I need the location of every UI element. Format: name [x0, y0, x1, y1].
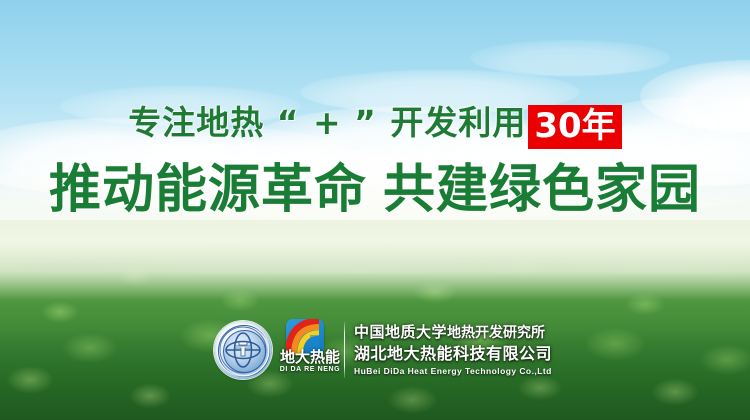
dida-logo-pinyin-text: DI DA RE NENG — [274, 366, 346, 373]
company-name-en: HuBei DiDa Heat Energy Technology Co.,Lt… — [354, 365, 552, 378]
seal-emblem-mark — [214, 321, 272, 379]
dida-logo-chinese-text: 地大热能 — [274, 349, 346, 366]
company-name-cn: 湖北地大热能科技有限公司 — [354, 343, 552, 364]
institution-line: 中国地质大学地热开发研究所 — [354, 322, 552, 343]
subtitle-plus-symbol: + — [313, 103, 342, 142]
subtitle-open-quote: “ — [277, 103, 301, 142]
university-name: 中国地质大学 — [354, 323, 447, 341]
main-title-left: 推动能源革命 — [49, 160, 367, 220]
anniversary-badge: 30年 — [528, 105, 621, 149]
subtitle-close-quote: ” — [354, 103, 378, 142]
subtitle-pre-text: 专注地热 — [128, 103, 264, 142]
promotional-banner: 专注地热 “ + ” 开发利用30年 推动能源革命共建绿色家园 — [0, 0, 750, 420]
institute-name: 地热开发研究所 — [447, 325, 545, 341]
dida-logo: 地大热能 DI DA RE NENG — [278, 319, 340, 381]
university-seal-icon — [214, 321, 272, 379]
brand-lockup: 地大热能 DI DA RE NENG 中国地质大学地热开发研究所 湖北地大热能科… — [214, 316, 544, 384]
headline-block: 专注地热 “ + ” 开发利用30年 推动能源革命共建绿色家园 — [0, 0, 750, 262]
main-title-right: 共建绿色家园 — [383, 160, 701, 220]
subtitle-post-text: 开发利用 — [390, 103, 526, 142]
company-name-block: 中国地质大学地热开发研究所 湖北地大热能科技有限公司 HuBei DiDa He… — [354, 320, 552, 380]
subtitle-line: 专注地热 “ + ” 开发利用30年 — [0, 100, 750, 149]
main-title: 推动能源革命共建绿色家园 — [0, 158, 750, 222]
